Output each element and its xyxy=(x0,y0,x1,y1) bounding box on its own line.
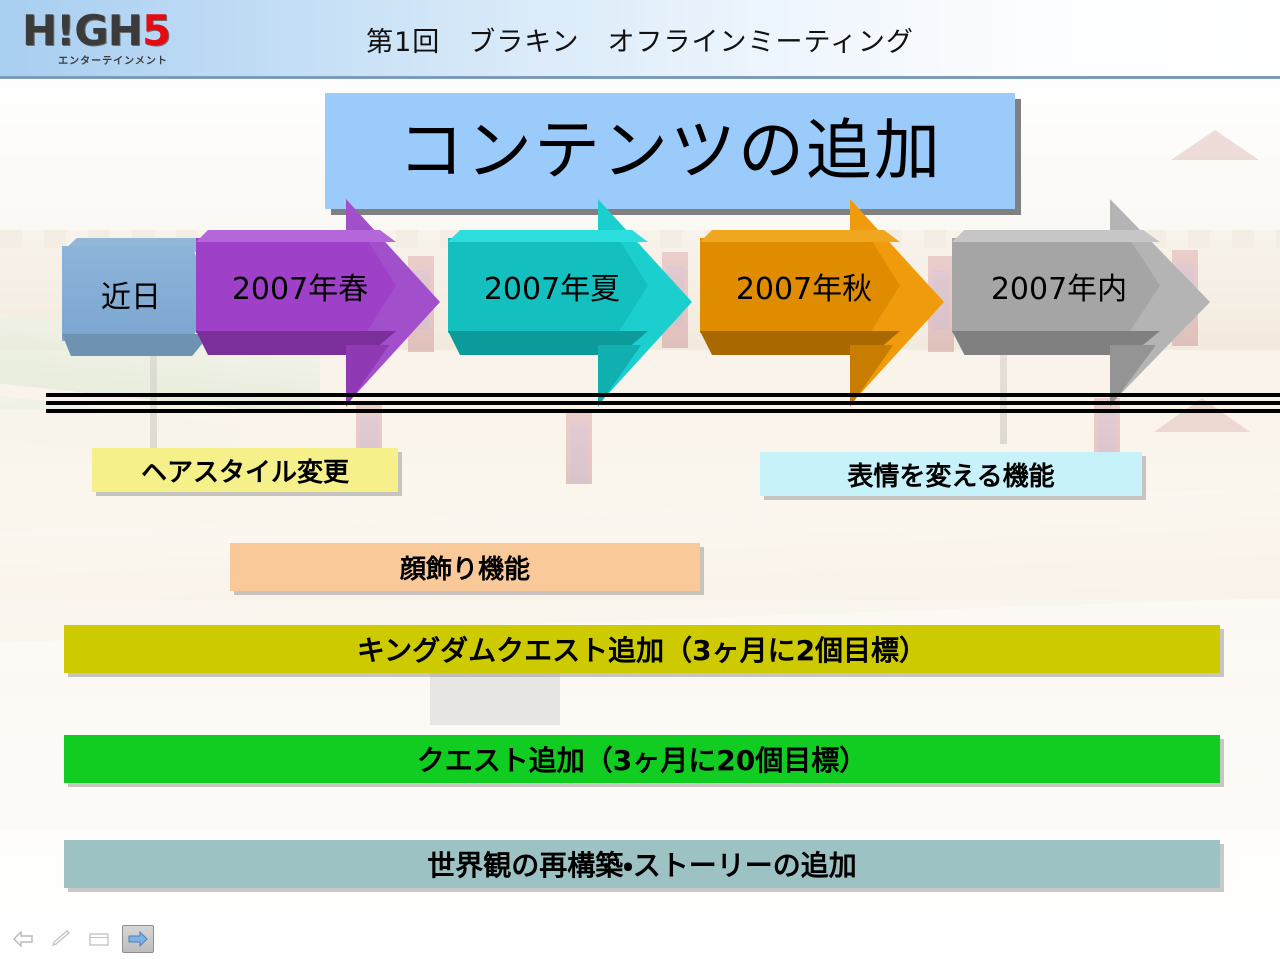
slideshow-toolbar[interactable] xyxy=(8,925,154,953)
timeline-label-1: 2007年春 xyxy=(196,238,404,333)
timeline-label-4: 2007年内 xyxy=(952,238,1166,333)
feature-bar-expression: 表情を変える機能 xyxy=(760,452,1142,496)
previous-slide-button[interactable] xyxy=(8,926,38,952)
slide-title-box: コンテンツの追加 xyxy=(325,93,1015,209)
pen-icon xyxy=(50,930,72,948)
timeline-label-2: 2007年夏 xyxy=(448,238,656,333)
feature-bar-quest: クエスト追加（3ヶ月に20個目標） xyxy=(64,735,1220,783)
feature-bar-kingdom-quest: キングダムクエスト追加（3ヶ月に2個目標） xyxy=(64,625,1220,673)
feature-bar-worldview: 世界観の再構築・ストーリーの追加 xyxy=(64,840,1220,888)
next-slide-button[interactable] xyxy=(122,925,154,953)
feature-label-5: 世界観の再構築・ストーリーの追加 xyxy=(427,844,857,884)
event-title: 第1回 ブラキン オフラインミーティング xyxy=(0,0,1280,79)
pen-tool-button[interactable] xyxy=(46,926,76,952)
slide-header: H!GH5 エンターテインメント 第1回 ブラキン オフラインミーティング xyxy=(0,0,1280,79)
timeline-item-within-year: 2007年内 xyxy=(952,193,1212,413)
timeline-item-spring: 2007年春 xyxy=(196,193,436,413)
feature-label-2: 顔飾り機能 xyxy=(400,549,530,586)
timeline-item-summer: 2007年夏 xyxy=(448,193,688,413)
feature-label-0: ヘアスタイル変更 xyxy=(141,452,349,489)
feature-label-3: キングダムクエスト追加（3ヶ月に2個目標） xyxy=(357,629,927,669)
feature-bar-hairstyle: ヘアスタイル変更 xyxy=(92,448,398,492)
timeline-item-kinjitsu: 近日 xyxy=(62,238,210,356)
presentation-slide: H!GH5 エンターテインメント 第1回 ブラキン オフラインミーティング コン… xyxy=(0,0,1280,959)
timeline-label-0: 近日 xyxy=(62,246,200,341)
feature-label-4: クエスト追加（3ヶ月に20個目標） xyxy=(417,739,867,779)
timeline-item-autumn: 2007年秋 xyxy=(700,193,940,413)
feature-bar-face-deco: 顔飾り機能 xyxy=(230,543,700,591)
slideshow-menu-button[interactable] xyxy=(84,926,114,952)
divider-rules xyxy=(46,393,1280,415)
slide-title: コンテンツの追加 xyxy=(398,118,942,184)
timeline-label-3: 2007年秋 xyxy=(700,238,908,333)
feature-label-1: 表情を変える機能 xyxy=(847,456,1054,493)
timeline-arrows: 近日 2007年春 2007年夏 2007年秋 xyxy=(0,193,1280,413)
menu-box-icon xyxy=(88,931,110,947)
arrow-right-icon xyxy=(127,931,149,947)
arrow-left-icon xyxy=(12,931,34,947)
